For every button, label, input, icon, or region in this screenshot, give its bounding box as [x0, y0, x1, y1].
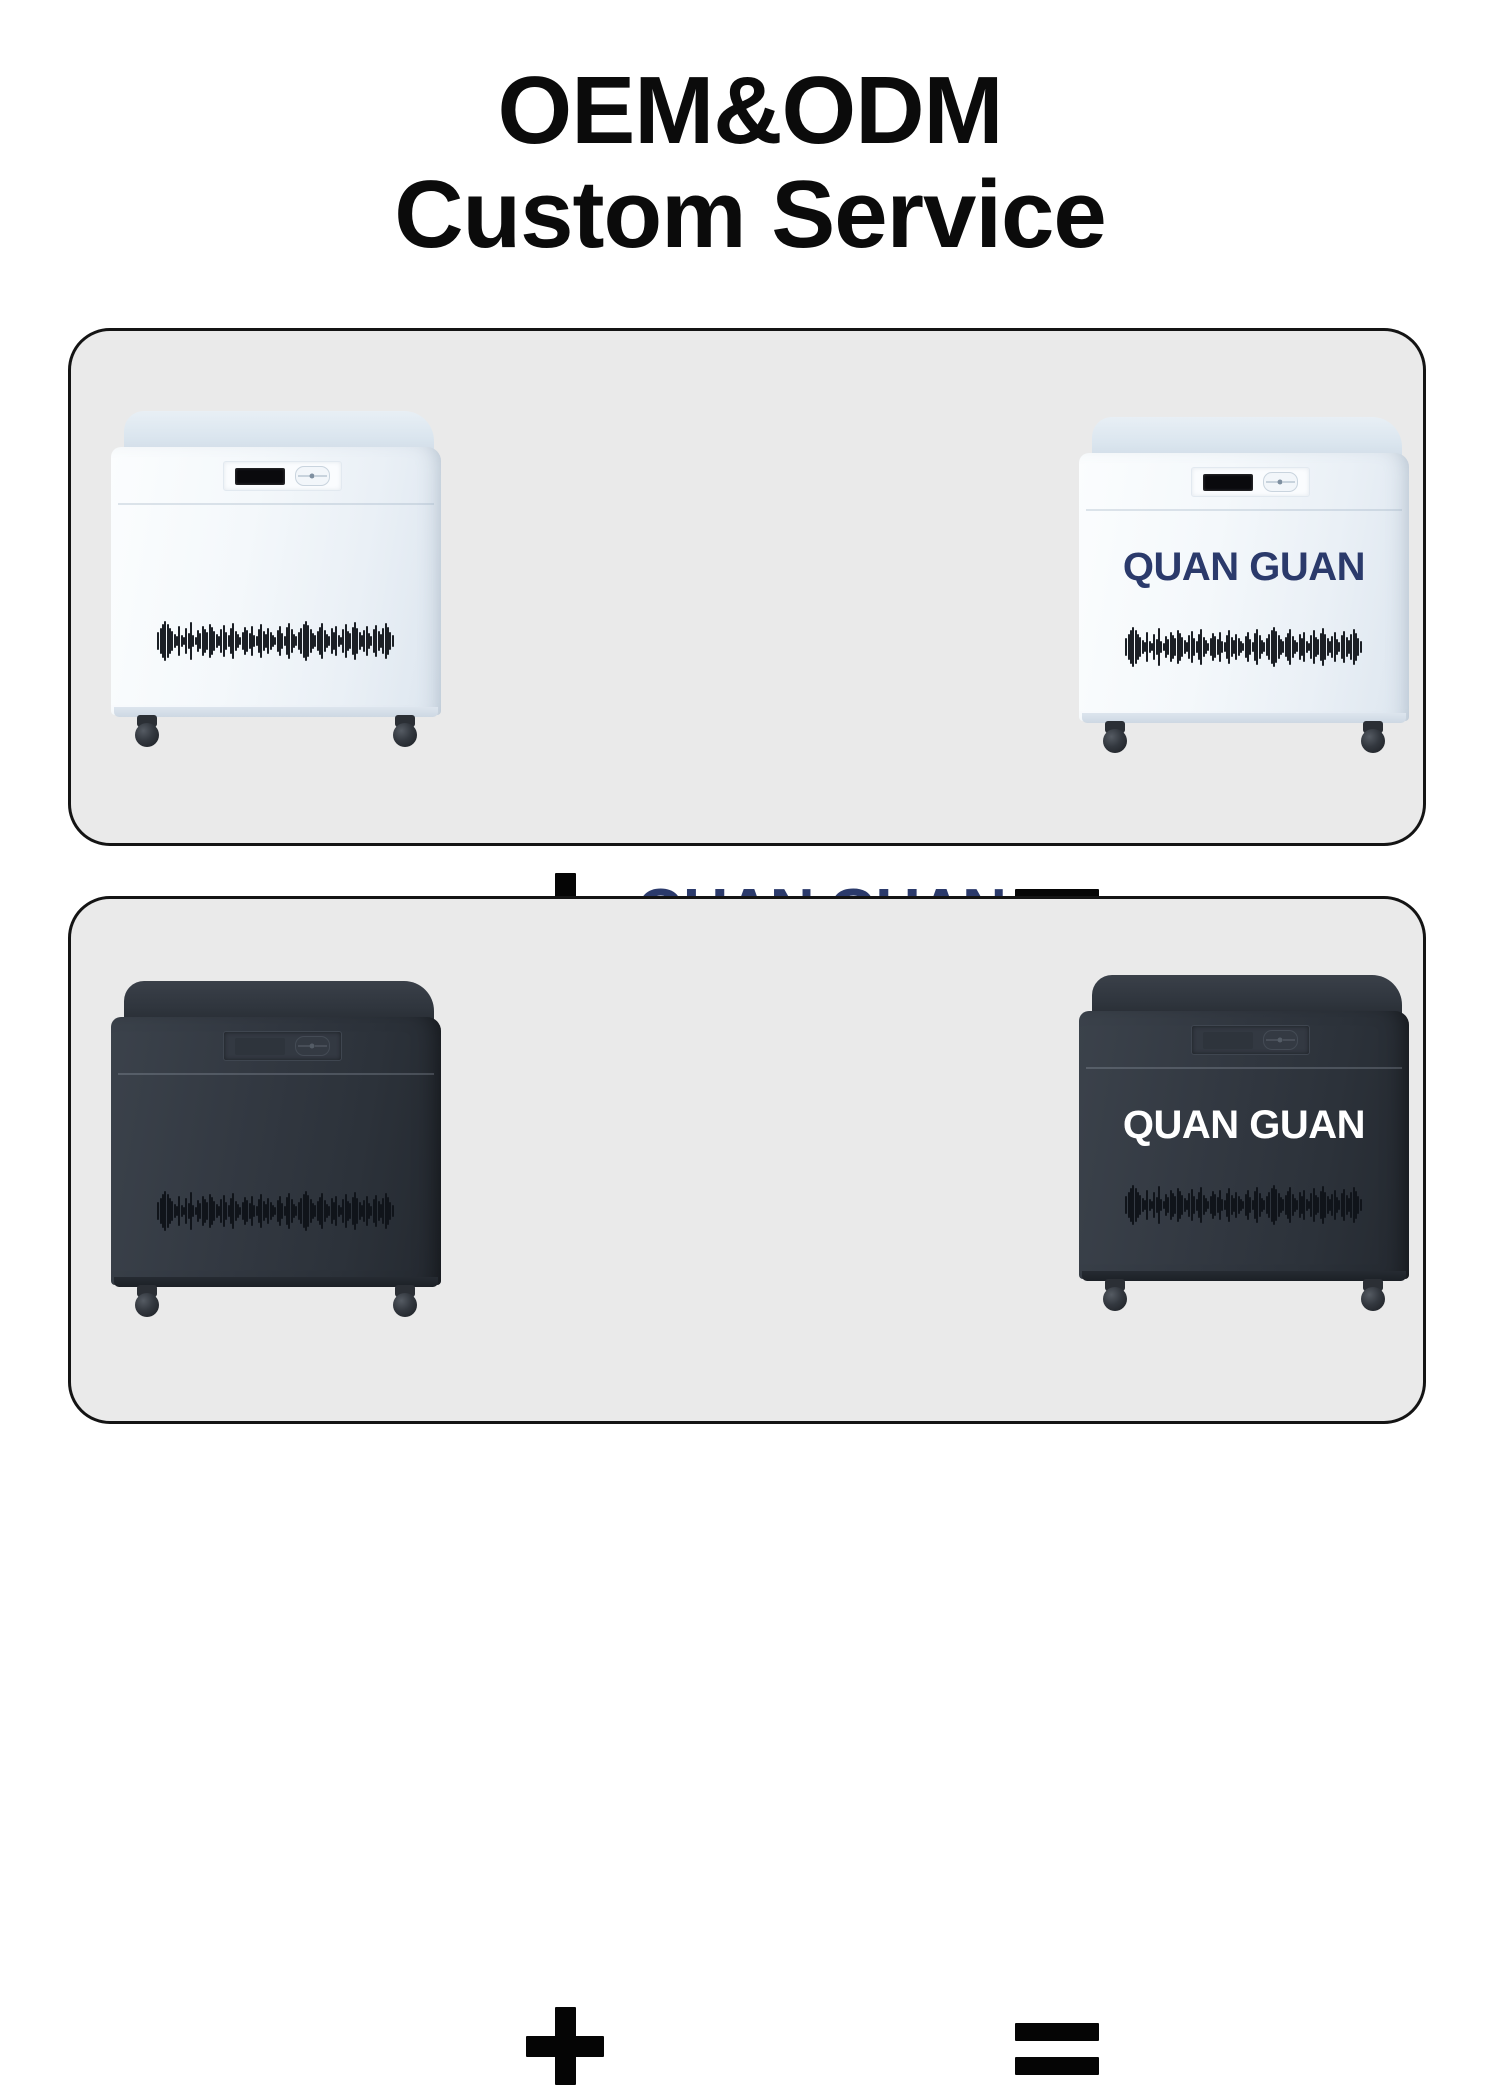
branded-white-cabinet: QUAN GUAN [1079, 417, 1409, 769]
grille-slot [1125, 1196, 1127, 1214]
keypad-icon[interactable] [295, 466, 331, 486]
keypad-icon[interactable] [1263, 472, 1299, 492]
caster-wheel-right-icon [392, 715, 418, 749]
cabinet-seam [118, 1073, 435, 1075]
ventilation-grille-icon [1125, 1181, 1363, 1229]
grille-slot [1343, 631, 1345, 663]
grille-slot [382, 628, 384, 654]
caster-wheel [1361, 729, 1385, 753]
caster-wheel [393, 723, 417, 747]
grille-slot [1207, 643, 1209, 651]
grille-slot [178, 1196, 180, 1226]
caster-wheel-right-icon [1360, 1279, 1386, 1313]
plus-operator-icon [526, 2007, 604, 2085]
cabinet-base [1082, 1271, 1405, 1281]
equation-row-white: QUAN GUAN QUAN GUAN [71, 331, 1423, 843]
grille-slot [375, 625, 377, 657]
caster-wheel-left-icon [134, 715, 160, 749]
grille-slot [1214, 636, 1216, 658]
grille-slot [307, 625, 309, 657]
grille-slot [382, 1198, 384, 1224]
blank-white-cabinet [111, 411, 441, 763]
keypad-center-dot-icon [310, 474, 315, 479]
brand-wordmark: QUAN GUAN [631, 2009, 1011, 2080]
cabinet-brand-label: QUAN GUAN [1079, 1103, 1409, 1148]
grille-slot [1357, 1196, 1359, 1214]
grille-slot [246, 630, 248, 652]
caster-wheel [135, 1293, 159, 1317]
caster-wheel [1361, 1287, 1385, 1311]
title-line-secondary: Custom Service [0, 166, 1500, 264]
caster-wheel [393, 1293, 417, 1317]
grille-slot [1193, 638, 1195, 656]
grille-slot [1275, 631, 1277, 663]
lcd-display-icon [235, 1038, 285, 1055]
caster-wheel-left-icon [1102, 721, 1128, 755]
grille-slot [1139, 1195, 1141, 1215]
ventilation-grille-icon [157, 617, 395, 665]
grille-slot [1139, 637, 1141, 657]
control-panel[interactable] [223, 1031, 342, 1061]
panel-white-variant: QUAN GUAN QUAN GUAN [68, 328, 1426, 846]
grille-slot [1193, 1196, 1195, 1214]
grille-slot [1268, 1192, 1270, 1218]
control-panel[interactable] [1191, 1025, 1310, 1055]
grille-slot [232, 1193, 234, 1229]
ventilation-grille-icon [1125, 623, 1363, 671]
grille-slot [1343, 1189, 1345, 1221]
equals-operator-icon [1015, 2023, 1099, 2075]
caster-wheel [1103, 729, 1127, 753]
grille-slot [239, 1207, 241, 1215]
grille-slot [1296, 642, 1298, 652]
page-title: OEM&ODM Custom Service [0, 62, 1500, 264]
grille-slot [1275, 1189, 1277, 1221]
grille-slot [225, 1202, 227, 1220]
cabinet-base [114, 1277, 437, 1287]
cabinet-brand-label: QUAN GUAN [1079, 545, 1409, 590]
grille-slot [1200, 1187, 1202, 1223]
grille-slot [1289, 1187, 1291, 1223]
lcd-display-icon [1203, 1032, 1253, 1049]
title-line-primary: OEM&ODM [0, 62, 1500, 160]
grille-slot [171, 1201, 173, 1221]
cabinet-seam [1086, 1067, 1403, 1069]
grille-slot [178, 626, 180, 656]
grille-slot [321, 1193, 323, 1229]
grille-slot [1200, 629, 1202, 665]
grille-slot [157, 632, 159, 650]
grille-slot [1125, 638, 1127, 656]
grille-slot [1207, 1201, 1209, 1209]
lcd-display-icon [235, 468, 285, 485]
grille-slot [253, 1205, 255, 1217]
grille-slot [389, 1202, 391, 1220]
control-panel[interactable] [1191, 467, 1310, 497]
grille-slot [1132, 627, 1134, 667]
keypad-center-dot-icon [1278, 480, 1283, 485]
grille-slot [314, 635, 316, 647]
grille-slot [1289, 629, 1291, 665]
lcd-display-icon [1203, 474, 1253, 491]
grille-slot [1146, 1190, 1148, 1220]
equation-row-black: QUAN GUAN QUAN GUAN [71, 899, 1423, 1421]
cabinet-seam [118, 503, 435, 505]
grille-slot [157, 1202, 159, 1220]
grille-slot [1132, 1185, 1134, 1225]
grille-slot [1221, 641, 1223, 653]
grille-slot [321, 623, 323, 659]
grille-slot [225, 632, 227, 650]
grille-slot [300, 1198, 302, 1224]
ventilation-grille-icon [157, 1187, 395, 1235]
grille-slot [314, 1205, 316, 1217]
grille-slot [328, 1206, 330, 1216]
grille-slot [253, 635, 255, 647]
control-panel[interactable] [223, 461, 342, 491]
caster-wheel-left-icon [1102, 1279, 1128, 1313]
grille-slot [1282, 641, 1284, 653]
grille-slot [1350, 1192, 1352, 1218]
caster-wheel [135, 723, 159, 747]
caster-wheel-right-icon [1360, 721, 1386, 755]
cabinet-base [1082, 713, 1405, 723]
cabinet-seam [1086, 509, 1403, 511]
grille-slot [164, 1191, 166, 1231]
grille-slot [389, 632, 391, 650]
keypad-icon[interactable] [1263, 1030, 1299, 1050]
grille-slot [239, 637, 241, 645]
grille-slot [328, 636, 330, 646]
caster-wheel [1103, 1287, 1127, 1311]
grille-slot [375, 1195, 377, 1227]
grille-slot [392, 1205, 394, 1217]
grille-slot [1146, 632, 1148, 662]
grille-slot [392, 635, 394, 647]
keypad-center-dot-icon [1278, 1038, 1283, 1043]
grille-slot [171, 631, 173, 651]
grille-slot [1350, 634, 1352, 660]
grille-slot [1221, 1199, 1223, 1211]
caster-wheel-right-icon [392, 1285, 418, 1319]
grille-slot [1268, 634, 1270, 660]
grille-slot [1360, 641, 1362, 653]
panel-black-variant: QUAN GUAN QUAN GUAN [68, 896, 1426, 1424]
branded-black-cabinet: QUAN GUAN [1079, 975, 1409, 1327]
grille-slot [1282, 1199, 1284, 1211]
grille-slot [164, 621, 166, 661]
cabinet-base [114, 707, 437, 717]
grille-slot [1357, 638, 1359, 656]
grille-slot [232, 623, 234, 659]
grille-slot [1360, 1199, 1362, 1211]
grille-slot [300, 628, 302, 654]
grille-slot [307, 1195, 309, 1227]
grille-slot [1296, 1200, 1298, 1210]
blank-black-cabinet [111, 981, 441, 1333]
grille-slot [1214, 1194, 1216, 1216]
keypad-icon[interactable] [295, 1036, 331, 1056]
keypad-center-dot-icon [310, 1044, 315, 1049]
caster-wheel-left-icon [134, 1285, 160, 1319]
grille-slot [246, 1200, 248, 1222]
